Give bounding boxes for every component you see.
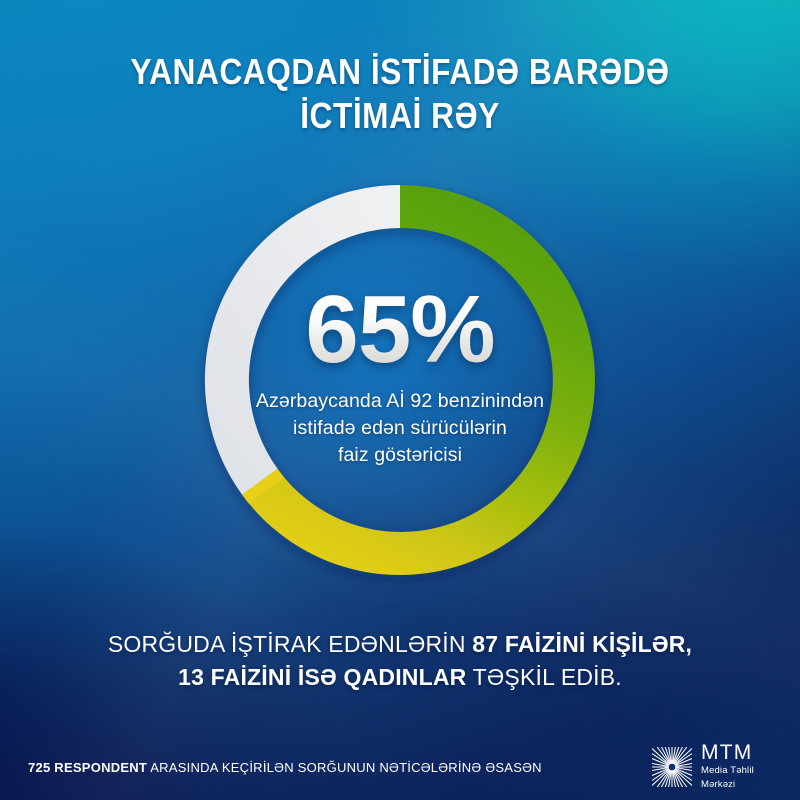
- statement-line-2: 13 FAİZİNİ İSƏ QADINLAR TƏŞKİL EDİB.: [0, 661, 800, 694]
- donut-caption-line-1: Azərbaycanda Aİ 92 benzinindən: [215, 388, 585, 415]
- donut-caption-line-3: faiz göstəricisi: [215, 442, 585, 469]
- footer-source-note: 725 RESPONDENT ARASINDA KEÇİRİLƏN SORĞUN…: [28, 760, 542, 775]
- donut-center-content: 65% Azərbaycanda Aİ 92 benzinindən istif…: [215, 280, 585, 469]
- title-line-2: İCTİMAİ RƏY: [48, 94, 752, 138]
- starburst-icon: [652, 747, 692, 787]
- title-line-1: YANACAQDAN İSTİFADƏ BARƏDƏ: [48, 50, 752, 94]
- mtm-logo: MTM Media Təhlil Mərkəzi: [652, 742, 754, 791]
- mtm-logo-text: MTM Media Təhlil Mərkəzi: [701, 742, 754, 791]
- statement-line-2-strong: 13 FAİZİNİ İSƏ QADINLAR: [178, 664, 466, 690]
- statement-line-1: SORĞUDA İŞTİRAK EDƏNLƏRİN 87 FAİZİNİ KİŞ…: [0, 628, 800, 661]
- donut-caption: Azərbaycanda Aİ 92 benzinindən istifadə …: [215, 388, 585, 469]
- donut-caption-line-2: istifadə edən sürücülərin: [215, 415, 585, 442]
- mtm-logo-title: MTM: [701, 742, 754, 763]
- footer-respondent-count: 725 RESPONDENT: [28, 760, 147, 775]
- statement-line-1-strong: 87 FAİZİNİ KİŞİLƏR,: [472, 631, 692, 657]
- statement-line-1-lite: SORĞUDA İŞTİRAK EDƏNLƏRİN: [108, 631, 472, 657]
- mtm-logo-subtitle-line-1: Media Təhlil: [701, 765, 754, 777]
- footer-note-text: ARASINDA KEÇİRİLƏN SORĞUNUN NƏTİCƏLƏRİNƏ…: [147, 760, 542, 775]
- statement-block: SORĞUDA İŞTİRAK EDƏNLƏRİN 87 FAİZİNİ KİŞ…: [0, 628, 800, 694]
- page-title: YANACAQDAN İSTİFADƏ BARƏDƏ İCTİMAİ RƏY: [0, 50, 800, 138]
- infographic-poster: YANACAQDAN İSTİFADƏ BARƏDƏ İCTİMAİ RƏY: [0, 0, 800, 800]
- statement-line-2-lite: TƏŞKİL EDİB.: [466, 664, 621, 690]
- mtm-logo-subtitle-line-2: Mərkəzi: [701, 779, 754, 791]
- donut-value-label: 65%: [215, 280, 585, 380]
